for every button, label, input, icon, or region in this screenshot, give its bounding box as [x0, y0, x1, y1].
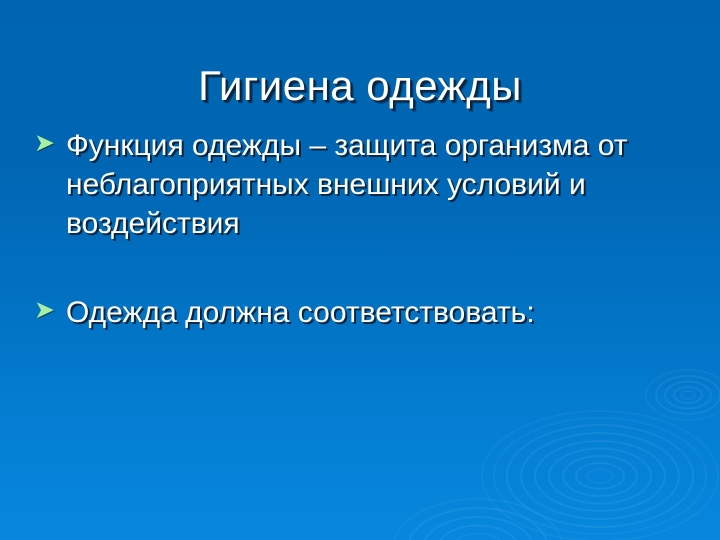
- ripple-ring: [586, 468, 614, 484]
- ripple-ring: [422, 516, 534, 540]
- ripple-ring: [548, 448, 652, 505]
- arrow-bullet-icon: ➤: [34, 126, 64, 162]
- arrow-bullet-icon: ➤: [34, 293, 64, 329]
- ripple-ring: [520, 432, 680, 520]
- ripple-ring: [680, 390, 696, 400]
- ripple-ring: [575, 462, 625, 490]
- ripple-ring: [655, 375, 720, 415]
- ripple-ring: [664, 381, 712, 410]
- slide-body: ➤ Функция одежды – защита организма от н…: [34, 126, 694, 332]
- slide-title: Гигиена одежды: [0, 62, 720, 109]
- ripple-ring: [437, 525, 519, 540]
- list-item: ➤ Одежда должна соответствовать:: [34, 293, 694, 332]
- ripple-ring: [645, 369, 720, 421]
- ripple-ring: [673, 386, 703, 404]
- ripple-ring: [562, 455, 638, 497]
- ripple-ring: [451, 533, 505, 540]
- ripple-ring: [481, 410, 719, 540]
- list-item: ➤ Функция одежды – защита организма от н…: [34, 126, 694, 243]
- ripple-ring: [407, 507, 549, 540]
- ripple-ring: [392, 498, 564, 540]
- ripple-ring: [534, 440, 666, 512]
- ripple-ring: [493, 417, 707, 535]
- list-item-label: Функция одежды – защита организма от неб…: [64, 126, 694, 243]
- list-item-label: Одежда должна соответствовать:: [64, 293, 694, 332]
- presentation-slide: Гигиена одежды ➤ Функция одежды – защита…: [0, 0, 720, 540]
- ripple-ring: [506, 424, 694, 528]
